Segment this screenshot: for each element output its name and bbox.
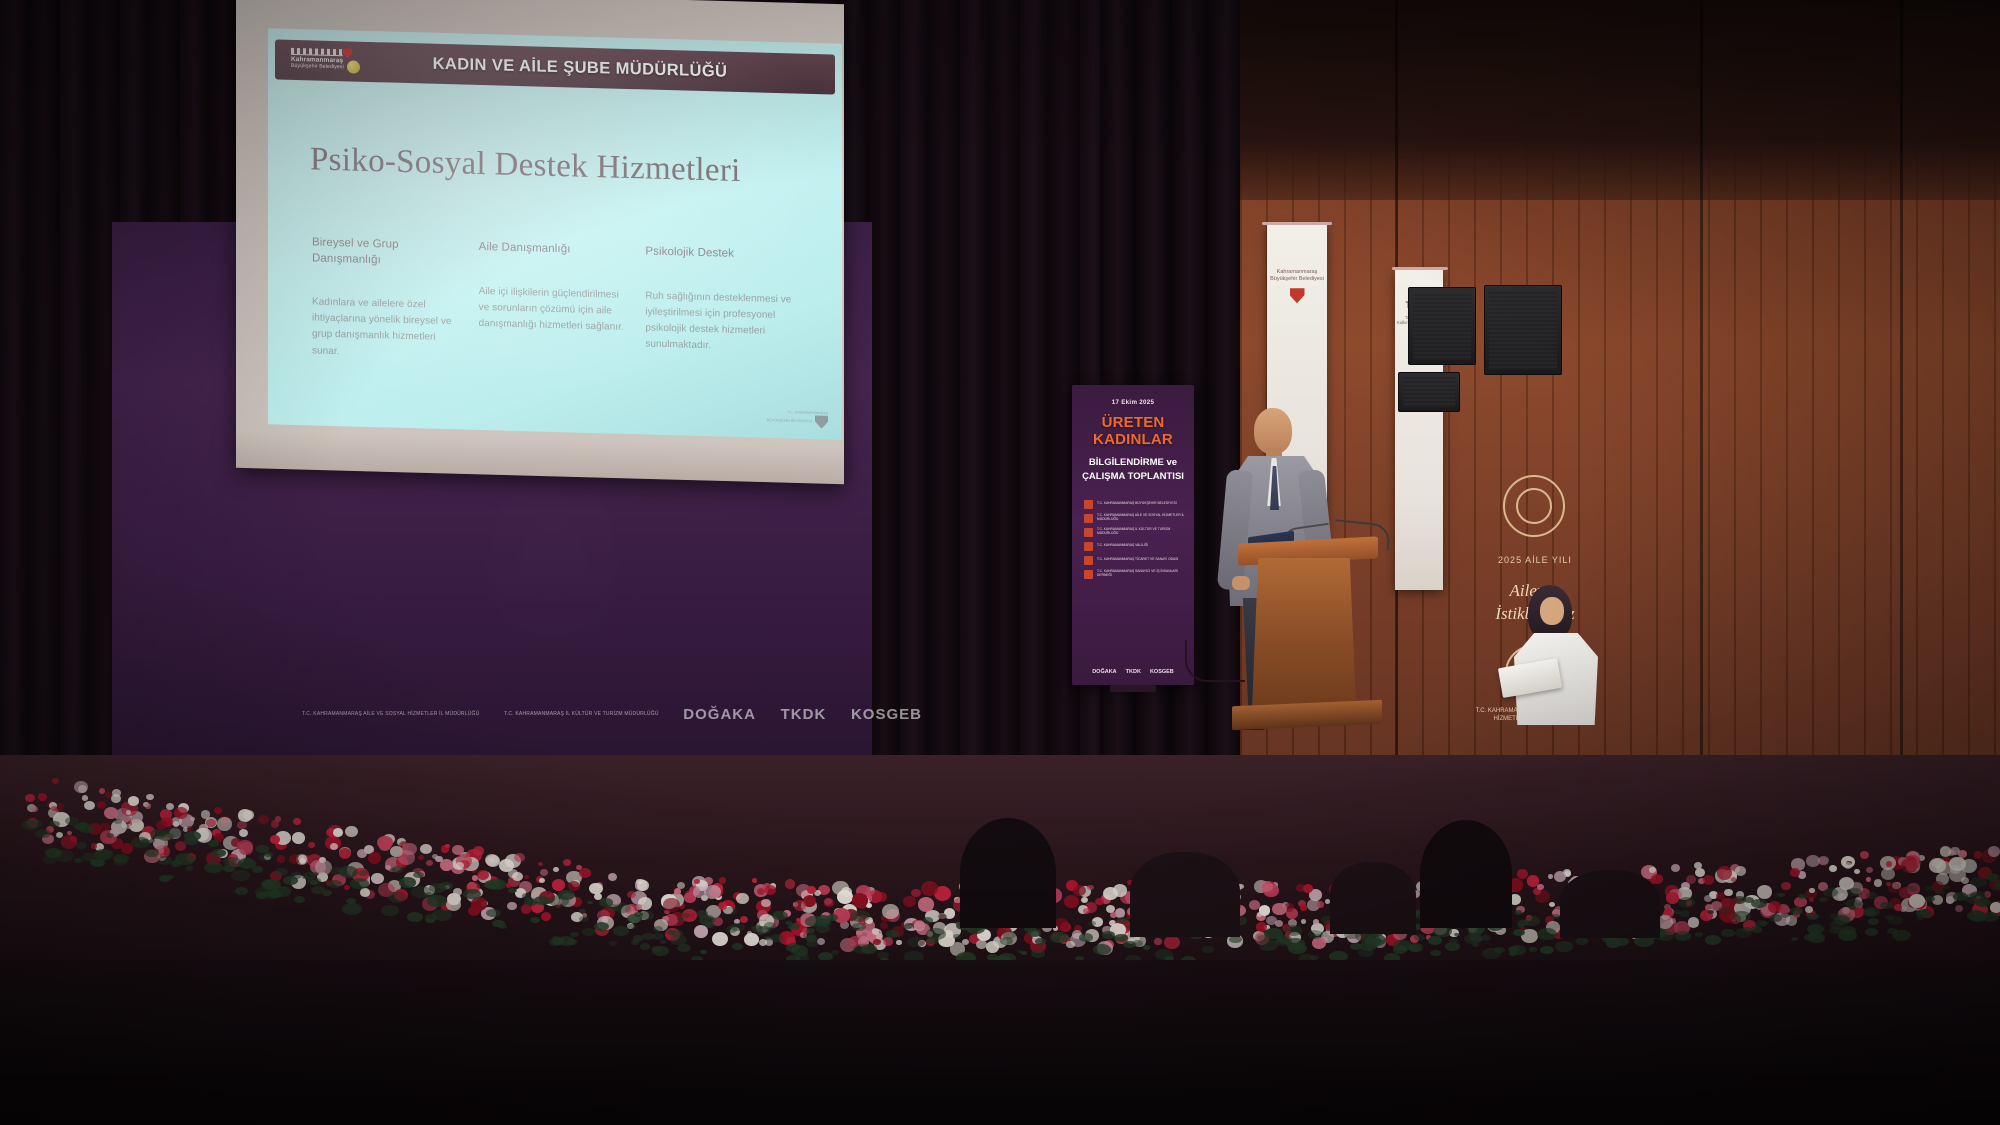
foliage	[1088, 921, 1096, 926]
flower	[239, 829, 249, 837]
rollup-partner-list: T.C. KAHRAMANMARAŞ BÜYÜKŞEHİR BELEDİYESİ…	[1080, 500, 1186, 579]
flower	[1087, 885, 1093, 890]
flower	[97, 801, 106, 809]
flower	[1950, 847, 1960, 856]
flower	[1073, 885, 1086, 896]
foliage	[1916, 909, 1932, 919]
foliage	[274, 868, 288, 877]
flower	[514, 853, 524, 862]
flower	[744, 933, 758, 946]
flower	[38, 793, 47, 801]
foliage	[1529, 947, 1536, 951]
flower	[31, 806, 38, 812]
foliage	[682, 913, 690, 918]
flower	[1095, 898, 1104, 906]
flower	[217, 817, 232, 831]
flower	[126, 810, 131, 815]
flower	[237, 821, 247, 830]
flower	[344, 885, 350, 890]
foliage	[1275, 937, 1291, 946]
slide-header-title: KADIN VE AİLE ŞUBE MÜDÜRLÜĞÜ	[365, 52, 835, 84]
flower	[507, 902, 517, 910]
flower	[1651, 874, 1663, 885]
foliage	[861, 944, 877, 954]
column-body: Aile içi ilişkilerin güçlendirilmesi ve …	[479, 283, 628, 336]
flower	[239, 842, 253, 854]
foliage	[1705, 935, 1721, 945]
flower	[100, 823, 109, 831]
flower	[1955, 905, 1963, 912]
column-heading: Aile Danışmanlığı	[479, 240, 628, 260]
flower	[1272, 903, 1286, 916]
flower	[452, 845, 464, 855]
audience-head	[1130, 852, 1240, 937]
foliage	[1994, 882, 2000, 891]
flower	[145, 803, 151, 809]
flower	[1854, 869, 1860, 874]
flower	[345, 826, 358, 837]
foliage	[75, 842, 87, 849]
foliage	[231, 870, 250, 881]
foliage	[1943, 885, 1950, 889]
flower	[1554, 871, 1567, 882]
foliage	[1735, 928, 1753, 939]
flower	[1257, 912, 1262, 917]
flower	[82, 795, 88, 801]
foliage	[1769, 914, 1782, 922]
flower	[51, 806, 57, 811]
flower	[883, 937, 893, 946]
foliage	[486, 909, 501, 918]
foliage	[587, 901, 593, 905]
foliage	[579, 916, 589, 922]
foliage	[392, 866, 404, 873]
foliage	[1445, 942, 1460, 951]
rollup-partner: T.C. KAHRAMANMARAŞ SANAYİCİ VE İŞ İNSANL…	[1084, 570, 1186, 579]
rollup-bottom-logos: DOĞAKA TKDK KOSGEB	[1072, 669, 1194, 675]
foliage	[388, 892, 406, 903]
flower	[736, 893, 749, 904]
flower	[214, 807, 222, 814]
flower	[512, 872, 523, 881]
foliage	[1718, 906, 1731, 914]
flower	[166, 803, 174, 810]
flower	[174, 807, 187, 819]
foliage	[697, 910, 709, 917]
flower	[1300, 904, 1308, 911]
flower	[896, 940, 901, 945]
flower	[1301, 919, 1306, 924]
flower	[1781, 882, 1790, 890]
flower	[360, 888, 370, 896]
flower	[918, 897, 935, 912]
banner-rod	[1392, 267, 1448, 270]
foliage	[1576, 937, 1588, 944]
foliage	[1414, 934, 1425, 941]
foliage	[1678, 897, 1695, 907]
partner-crest-icon	[1084, 528, 1093, 537]
flower	[563, 859, 571, 866]
flower	[1724, 889, 1732, 896]
flower	[368, 852, 382, 864]
flower	[74, 781, 88, 793]
foliage	[262, 879, 281, 890]
flower	[1275, 920, 1283, 927]
foliage	[185, 866, 194, 871]
foliage	[1428, 936, 1442, 945]
foliage	[582, 928, 595, 936]
foliage	[642, 933, 653, 940]
crest-icon	[1290, 288, 1305, 303]
attendee-face	[1540, 597, 1564, 625]
foliage	[1695, 932, 1703, 937]
column-heading: Psikolojik Destek	[645, 244, 794, 264]
logo-tkdk: TKDK	[1126, 669, 1141, 675]
flower	[674, 888, 681, 895]
slide-column: Aile Danışmanlığı Aile içi ilişkilerin g…	[479, 240, 646, 368]
flower	[1517, 869, 1528, 879]
foliage	[358, 870, 369, 876]
audience-head	[1420, 820, 1512, 928]
foliage	[1513, 929, 1525, 936]
foliage	[1925, 896, 1935, 902]
foliage	[1986, 873, 1999, 881]
foliage	[1751, 926, 1762, 933]
partner-crest-icon	[1084, 542, 1093, 551]
slide-column: Psikolojik Destek Ruh sağlığının destekl…	[645, 244, 812, 372]
flower	[1886, 861, 1892, 866]
foliage	[938, 914, 946, 919]
flower	[817, 938, 825, 945]
foliage	[238, 858, 256, 869]
flower	[882, 904, 899, 919]
foliage	[1515, 910, 1523, 915]
foliage	[1102, 931, 1115, 939]
foliage	[1116, 917, 1128, 924]
flower	[1537, 884, 1544, 890]
rollup-date: 17 Ekim 2025	[1080, 399, 1186, 406]
flower	[794, 900, 806, 910]
flower	[1317, 901, 1324, 907]
foliage	[330, 867, 344, 875]
foliage	[212, 849, 226, 857]
flower	[1064, 895, 1079, 908]
foliage	[634, 912, 643, 917]
foliage	[439, 882, 453, 891]
foliage	[1674, 910, 1681, 914]
presentation-slide: Kahramanmaraş Büyükşehir Belediyesi KADI…	[268, 28, 842, 440]
flower	[298, 855, 306, 862]
foliage	[1838, 930, 1857, 941]
foliage	[113, 854, 128, 863]
foliage	[322, 890, 332, 896]
flower	[524, 875, 529, 880]
flower	[553, 867, 559, 872]
foliage	[1807, 913, 1819, 920]
flower	[1844, 862, 1852, 869]
rollup-partner: T.C. KAHRAMANMARAŞ AİLE VE SOSYAL HİZMET…	[1084, 514, 1186, 523]
foliage	[413, 872, 424, 879]
foliage	[1517, 920, 1528, 927]
foliage	[342, 903, 362, 915]
slide-columns: Bireysel ve Grup Danışmanlığı Kadınlara …	[312, 235, 812, 372]
flower	[293, 818, 301, 825]
foliage	[1733, 896, 1746, 904]
flower	[486, 855, 499, 867]
foliage	[652, 933, 664, 940]
foliage	[609, 941, 617, 946]
foliage	[1829, 921, 1843, 929]
foliage	[1537, 928, 1557, 940]
foliage	[114, 819, 122, 824]
foliage	[25, 819, 42, 829]
foliage	[700, 950, 707, 954]
foliage	[407, 912, 423, 922]
foliage	[627, 924, 636, 929]
flower	[258, 815, 268, 824]
foliage	[350, 878, 368, 889]
flower	[1717, 866, 1732, 879]
flower	[25, 794, 34, 802]
foliage	[264, 852, 272, 857]
flower	[445, 844, 450, 849]
logo-kosgeb: KOSGEB	[1150, 669, 1174, 675]
flower	[785, 879, 795, 888]
flower	[903, 896, 916, 907]
flower	[1066, 941, 1075, 949]
flower	[663, 898, 679, 912]
podium-body	[1252, 558, 1356, 708]
foliage	[886, 930, 899, 938]
foliage	[294, 896, 305, 903]
foliage	[463, 889, 480, 899]
foliage	[1551, 914, 1560, 919]
foliage	[427, 895, 447, 907]
flower	[1312, 937, 1325, 949]
flower	[1688, 917, 1699, 927]
crest-icon	[815, 416, 828, 429]
flower	[377, 836, 393, 850]
flower	[1886, 882, 1891, 887]
flower	[976, 940, 987, 949]
flower	[1874, 879, 1882, 886]
foliage	[208, 840, 220, 847]
flower	[1735, 866, 1746, 876]
foliage	[670, 935, 686, 945]
foliage	[1031, 949, 1046, 958]
foliage	[1555, 941, 1573, 952]
rollup-banner: 17 Ekim 2025 ÜRETEN KADINLAR BİLGİLENDİR…	[1072, 385, 1194, 685]
flower	[1686, 875, 1697, 884]
flower	[752, 878, 758, 883]
partner-crest-icon	[1084, 570, 1093, 579]
foliage	[1823, 888, 1838, 897]
foliage	[1847, 888, 1861, 897]
flower	[418, 855, 424, 860]
flower	[99, 788, 105, 794]
foliage	[953, 934, 960, 938]
foliage	[1721, 929, 1734, 937]
flower	[111, 794, 122, 804]
rollup-subtitle: BİLGİLENDİRME ve ÇALIŞMA TOPLANTISI	[1080, 456, 1186, 484]
flower	[712, 932, 728, 946]
foliage	[705, 922, 714, 927]
flower	[921, 881, 938, 896]
stage-scene: T.C. KAHRAMANMARAŞ AİLE VE SOSYAL HİZMET…	[0, 0, 2000, 1125]
flower	[1860, 851, 1869, 859]
foliage	[487, 879, 505, 890]
foliage	[1970, 877, 1988, 888]
flower	[426, 860, 433, 866]
foliage	[1675, 931, 1691, 941]
flower	[1164, 936, 1179, 949]
flower	[277, 855, 285, 862]
foliage	[1982, 912, 1999, 922]
flower	[402, 843, 416, 856]
flower	[841, 887, 853, 897]
foliage	[1707, 910, 1714, 914]
flower	[693, 886, 707, 898]
foliage	[171, 860, 181, 866]
decor-year-label: 2025 AİLE YILI	[1485, 555, 1585, 565]
foliage	[772, 911, 788, 920]
foliage	[204, 862, 223, 873]
foliage	[558, 936, 575, 946]
flower	[1974, 851, 1983, 859]
rollup-partner: T.C. KAHRAMANMARAŞ İL KÜLTÜR VE TURİZM M…	[1084, 528, 1186, 537]
flower	[271, 820, 280, 828]
flower	[807, 886, 816, 894]
flower	[1731, 877, 1736, 882]
foliage	[1868, 918, 1880, 925]
foliage	[1790, 907, 1803, 915]
flower	[128, 796, 139, 806]
foliage	[1935, 889, 1946, 895]
flower	[1866, 867, 1873, 873]
foliage	[1778, 893, 1785, 897]
flower	[1909, 894, 1924, 908]
flower	[1548, 874, 1553, 879]
column-body: Kadınlara ve ailelere özel ihtiyaçlarına…	[312, 294, 461, 363]
flower	[880, 922, 888, 929]
audience-head	[1560, 870, 1660, 938]
column-heading: Bireysel ve Grup Danışmanlığı	[312, 235, 461, 270]
foliage	[399, 877, 416, 887]
foliage	[926, 928, 946, 940]
flower	[1260, 881, 1272, 892]
flower	[308, 842, 315, 848]
flower	[292, 832, 305, 844]
flower	[473, 846, 484, 856]
foliage	[381, 905, 399, 916]
flower	[1083, 908, 1089, 914]
flower	[540, 869, 548, 876]
flower	[1716, 892, 1725, 900]
wall-upper-shadow	[1240, 0, 2000, 200]
flower	[243, 810, 254, 820]
foliage	[1798, 894, 1807, 899]
foliage	[1358, 948, 1374, 958]
flower	[52, 778, 59, 784]
partner-crest-icon	[1084, 500, 1093, 509]
flower	[1894, 904, 1902, 911]
flower	[1703, 875, 1715, 885]
flower	[1818, 856, 1828, 865]
rollup-partner: T.C. KAHRAMANMARAŞ TİCARET VE SANAYİ ODA…	[1084, 556, 1178, 565]
foliage	[235, 887, 249, 895]
flower	[1988, 846, 2000, 857]
foliage	[184, 837, 198, 845]
foliage	[1804, 934, 1815, 941]
flower	[447, 893, 461, 905]
foliage	[904, 923, 913, 928]
foliage	[1791, 937, 1798, 941]
foliage	[1079, 933, 1093, 942]
flower	[1904, 855, 1921, 870]
flower	[539, 878, 545, 883]
audience-head	[960, 818, 1056, 928]
foliage	[166, 875, 174, 880]
foliage	[1865, 928, 1878, 936]
flower	[874, 892, 886, 903]
flower	[704, 885, 720, 899]
foliage	[1123, 941, 1136, 949]
flower	[91, 843, 97, 848]
logo-dogaka: DOĞAKA	[1092, 669, 1116, 675]
foliage	[164, 827, 182, 838]
loudspeaker	[1484, 285, 1562, 375]
flower	[541, 912, 552, 921]
flower	[1866, 877, 1872, 882]
foliage	[307, 877, 320, 885]
rollup-title: ÜRETEN KADINLAR	[1080, 414, 1186, 448]
loudspeaker	[1398, 372, 1460, 412]
flower	[499, 859, 514, 872]
flower	[477, 870, 489, 880]
foliage	[660, 940, 666, 944]
loudspeaker	[1408, 287, 1476, 365]
foliage	[328, 880, 342, 888]
audience-head	[1330, 862, 1416, 934]
flower	[1829, 865, 1837, 872]
foliage	[1000, 937, 1013, 945]
foliage	[131, 837, 150, 848]
flower	[1671, 864, 1680, 872]
slide-footer-logo: T.C. KAHRAMANMARAŞ BÜYÜKŞEHİR BELEDİYESİ	[766, 410, 828, 428]
foliage	[425, 914, 437, 921]
flower	[765, 885, 777, 895]
flower	[1768, 901, 1781, 912]
foliage	[785, 921, 792, 925]
foreground-floor	[0, 960, 2000, 1125]
slide-title: Psiko-Sosyal Destek Hizmetleri	[310, 141, 741, 190]
foliage	[1310, 955, 1318, 960]
municipality-logo-icon: Kahramanmaraş Büyükşehir Belediyesi	[289, 47, 365, 75]
partner-crest-icon	[1084, 556, 1093, 565]
foliage	[1880, 902, 1892, 909]
flower	[740, 916, 749, 924]
foliage	[1093, 944, 1111, 955]
flower	[757, 888, 765, 895]
flower	[1695, 868, 1706, 877]
foliage	[640, 943, 651, 950]
flower	[1809, 888, 1814, 893]
flower	[1549, 902, 1555, 907]
flower	[627, 891, 635, 898]
flower	[852, 893, 868, 907]
flower	[1154, 938, 1161, 944]
foliage	[145, 849, 159, 857]
